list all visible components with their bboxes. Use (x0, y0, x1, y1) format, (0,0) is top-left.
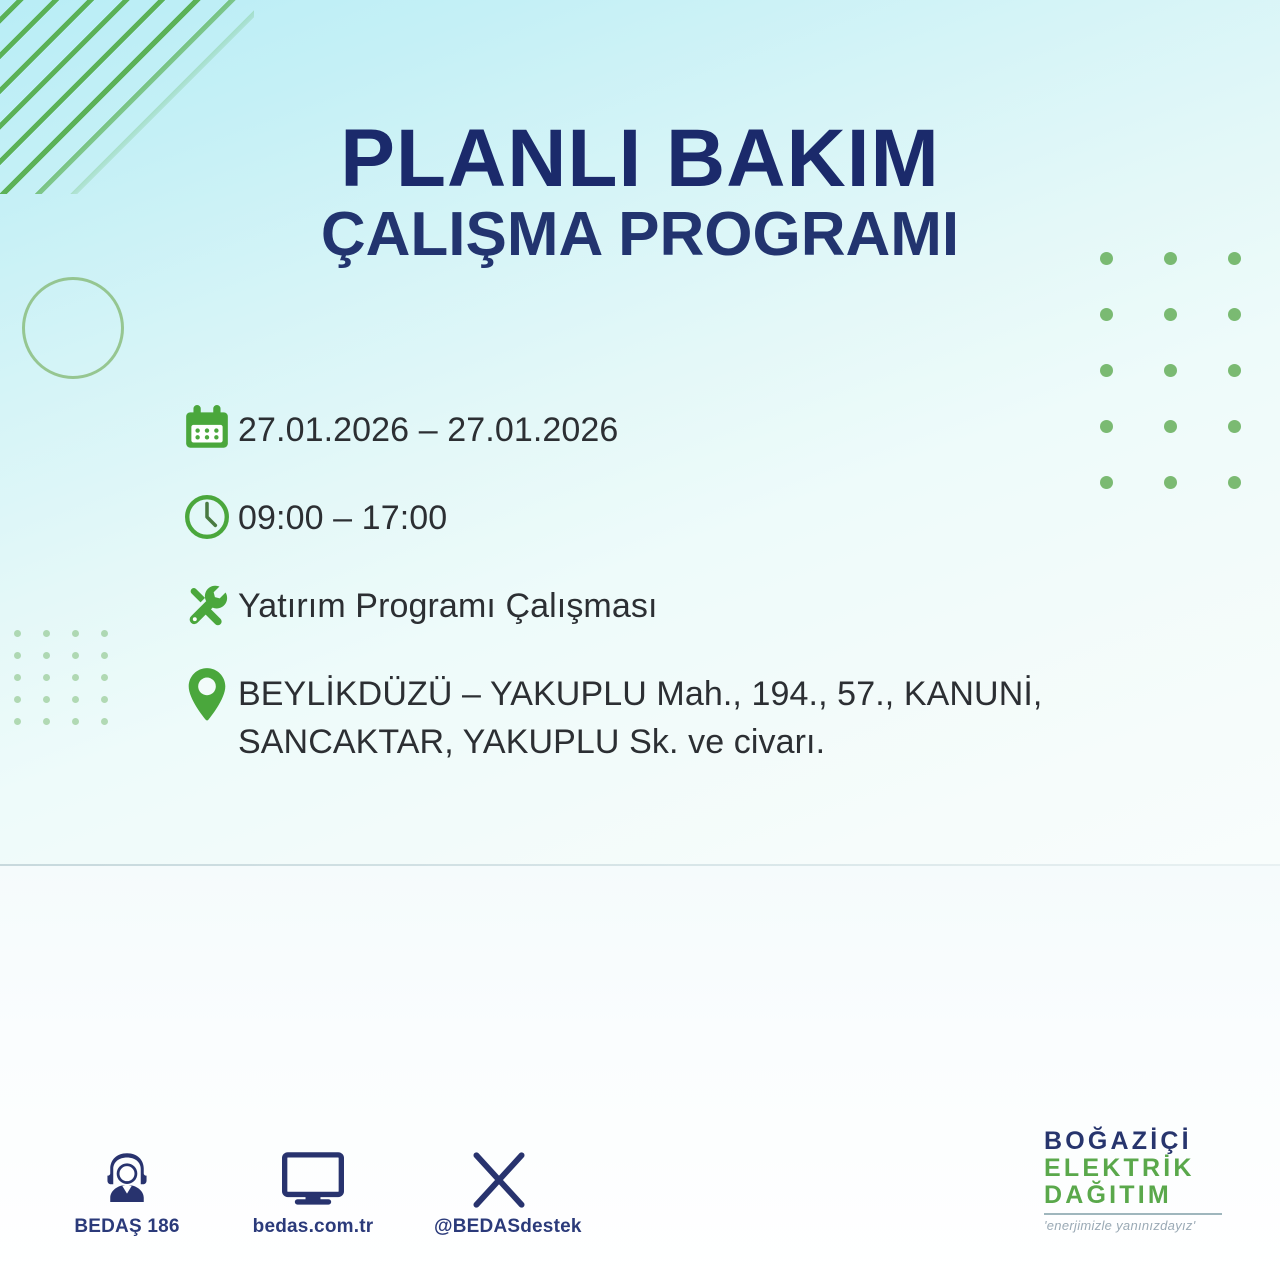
detail-date-text: 27.01.2026 – 27.01.2026 (238, 398, 618, 454)
detail-worktype-text: Yatırım Programı Çalışması (238, 574, 658, 630)
detail-time-text: 09:00 – 17:00 (238, 486, 447, 542)
bedas-logo: BOĞAZİÇİ ELEKTRİK DAĞITIM 'enerjimizle y… (1044, 1128, 1254, 1233)
page-title: PLANLI BAKIM ÇALIŞMA PROGRAMI (0, 118, 1280, 266)
contact-phone[interactable]: BEDAŞ 186 (62, 1142, 192, 1238)
detail-row-location: BEYLİKDÜZÜ – YAKUPLU Mah., 194., 57., KA… (176, 662, 1236, 767)
detail-row-worktype: Yatırım Programı Çalışması (176, 574, 1236, 636)
maintenance-details-list: 27.01.2026 – 27.01.2026 09:00 – 17:00 (176, 398, 1236, 793)
logo-tagline: 'enerjimizle yanınızdayız' (1044, 1218, 1254, 1233)
logo-line-dagitim: DAĞITIM (1044, 1182, 1254, 1209)
clock-icon (176, 486, 238, 548)
footer-contact-list: BEDAŞ 186 bedas.com.tr (62, 1142, 564, 1238)
location-pin-icon (176, 662, 238, 726)
title-line-secondary: ÇALIŞMA PROGRAMI (0, 204, 1280, 266)
logo-line-bogazici: BOĞAZİÇİ (1044, 1128, 1254, 1155)
logo-line-elektrik: ELEKTRİK (1044, 1155, 1254, 1182)
dot-grid-left-decoration (14, 630, 124, 730)
contact-website-label: bedas.com.tr (248, 1216, 378, 1238)
monitor-icon (248, 1142, 378, 1208)
contact-website[interactable]: bedas.com.tr (248, 1142, 378, 1238)
x-social-icon (434, 1142, 564, 1208)
tools-icon (176, 574, 238, 636)
detail-row-time: 09:00 – 17:00 (176, 486, 1236, 548)
contact-social-label: @BEDASdestek (434, 1216, 564, 1238)
detail-row-date: 27.01.2026 – 27.01.2026 (176, 398, 1236, 460)
contact-social-x[interactable]: @BEDASdestek (434, 1142, 564, 1238)
circle-outline-decoration (22, 277, 124, 379)
support-agent-icon (62, 1142, 192, 1208)
planned-maintenance-poster: PLANLI BAKIM ÇALIŞMA PROGRAMI 27.01.2026… (0, 0, 1280, 1280)
contact-phone-label: BEDAŞ 186 (62, 1216, 192, 1238)
detail-location-text: BEYLİKDÜZÜ – YAKUPLU Mah., 194., 57., KA… (238, 662, 1198, 767)
calendar-icon (176, 398, 238, 460)
logo-divider (1044, 1213, 1222, 1215)
title-line-primary: PLANLI BAKIM (0, 118, 1280, 200)
